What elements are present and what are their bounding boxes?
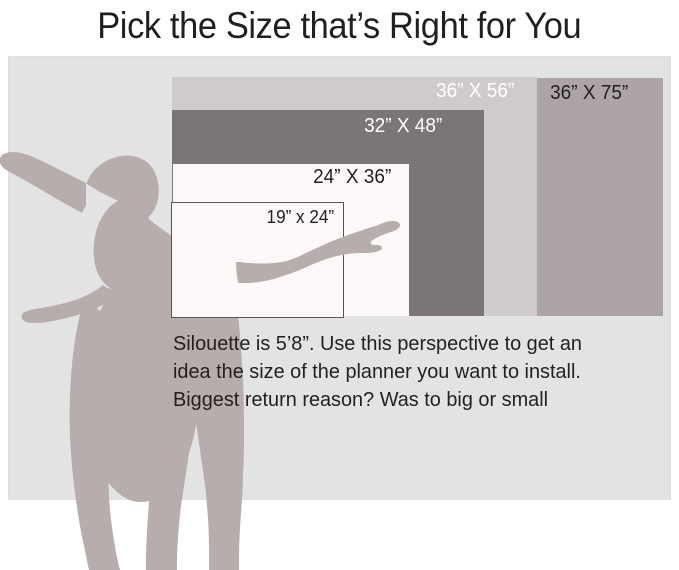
size-comparison-poster: Pick the Size that’s Right for You 36” X…	[0, 0, 679, 570]
caption-block: Silouette is 5’8”. Use this perspective …	[173, 330, 668, 414]
size-label-32x48: 32” X 48”	[364, 115, 442, 138]
size-label-24x36: 24” X 36”	[313, 166, 391, 189]
size-label-36x75: 36” X 75”	[550, 82, 628, 105]
size-label-36x56: 36” X 56”	[436, 80, 514, 103]
page-title-text: Pick the Size that’s Right for You	[97, 5, 581, 47]
size-label-19x24: 19” x 24”	[267, 207, 334, 228]
page-title: Pick the Size that’s Right for You	[0, 0, 679, 52]
caption-line-3: Biggest return reason? Was to big or sma…	[173, 386, 653, 414]
size-rect-36x75	[537, 78, 663, 316]
caption-line-2: idea the size of the planner you want to…	[173, 358, 653, 386]
caption-line-1: Silouette is 5’8”. Use this perspective …	[173, 330, 653, 358]
